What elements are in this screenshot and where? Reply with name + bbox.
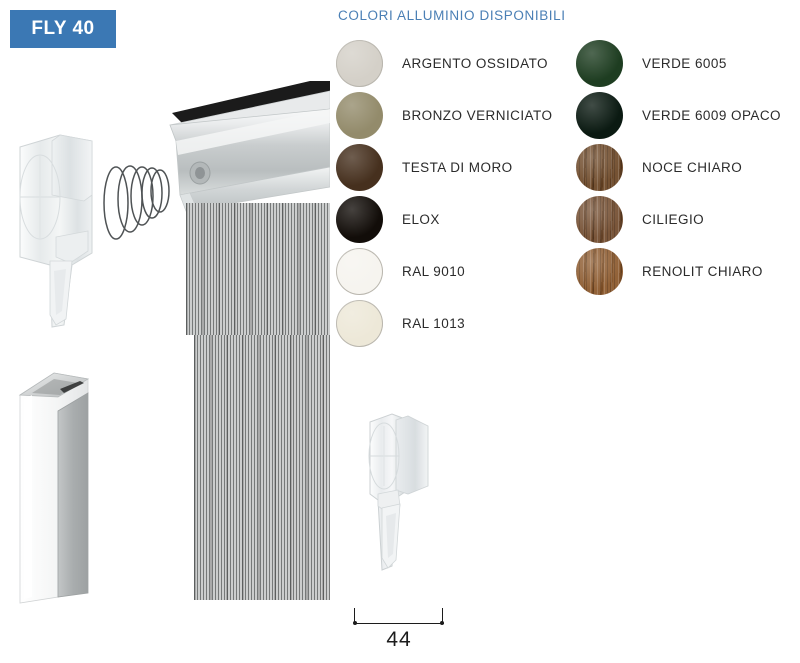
dimension-value: 44 (353, 628, 445, 652)
product-badge-label: FLY 40 (31, 18, 94, 40)
colors-column-right: VERDE 6005 VERDE 6009 OPACO NOCE CHIARO … (576, 37, 796, 349)
headrail-bar-part (170, 81, 330, 211)
dot-sheen (576, 92, 623, 139)
dot-sheen (336, 196, 383, 243)
color-swatch-row[interactable]: ELOX (336, 193, 576, 245)
color-label: ELOX (402, 212, 440, 227)
color-label: TESTA DI MORO (402, 160, 513, 175)
color-swatch-row[interactable]: NOCE CHIARO (576, 141, 796, 193)
end-cap-detail-svg (352, 408, 462, 603)
color-dot (336, 300, 383, 347)
color-swatch-row[interactable]: TESTA DI MORO (336, 141, 576, 193)
dimension-baseline (354, 623, 444, 624)
mesh-screen-texture (186, 203, 330, 335)
color-label: NOCE CHIARO (642, 160, 742, 175)
color-label: CILIEGIO (642, 212, 704, 227)
mesh-weave-bands-lower (194, 335, 330, 600)
color-swatch-row[interactable]: VERDE 6009 OPACO (576, 89, 796, 141)
color-swatch-row[interactable]: VERDE 6005 (576, 37, 796, 89)
mesh-screen-lower (194, 335, 330, 600)
colors-panel-title: COLORI ALLUMINIO DISPONIBILI (338, 8, 796, 23)
color-swatch-row[interactable]: RENOLIT CHIARO (576, 245, 796, 297)
color-dot (336, 196, 383, 243)
colors-columns: ARGENTO OSSIDATO BRONZO VERNICIATO TESTA… (336, 37, 796, 349)
color-dot (336, 40, 383, 87)
dimension-tick-right (440, 621, 444, 625)
dot-sheen (576, 196, 623, 243)
color-label: ARGENTO OSSIDATO (402, 56, 548, 71)
dot-sheen (336, 92, 383, 139)
dot-sheen (336, 300, 383, 347)
color-swatch-row[interactable]: ARGENTO OSSIDATO (336, 37, 576, 89)
end-cap-part (20, 135, 92, 327)
dimension-tick-left (353, 621, 357, 625)
color-swatch-row[interactable]: RAL 1013 (336, 297, 576, 349)
color-dot (576, 40, 623, 87)
dot-sheen (576, 144, 623, 191)
color-label: VERDE 6009 OPACO (642, 108, 781, 123)
color-label: RAL 9010 (402, 264, 465, 279)
guide-profile-svg (10, 365, 120, 605)
end-cap-detail-diagram (352, 408, 462, 603)
color-label: RENOLIT CHIARO (642, 264, 763, 279)
color-dot (576, 196, 623, 243)
dot-sheen (336, 40, 383, 87)
dot-sheen (576, 248, 623, 295)
color-dot (336, 92, 383, 139)
guide-profile-diagram (10, 365, 120, 605)
color-label: RAL 1013 (402, 316, 465, 331)
dot-sheen (576, 40, 623, 87)
color-dot (336, 144, 383, 191)
color-dot (576, 144, 623, 191)
color-dot (336, 248, 383, 295)
exploded-assembly-diagram (0, 75, 330, 335)
width-dimension: 44 (353, 608, 445, 656)
dot-sheen (336, 248, 383, 295)
color-swatch-row[interactable]: CILIEGIO (576, 193, 796, 245)
color-dot (576, 248, 623, 295)
color-label: BRONZO VERNICIATO (402, 108, 552, 123)
product-badge: FLY 40 (10, 10, 116, 48)
colors-column-left: ARGENTO OSSIDATO BRONZO VERNICIATO TESTA… (336, 37, 576, 349)
colors-panel: COLORI ALLUMINIO DISPONIBILI ARGENTO OSS… (336, 8, 796, 349)
color-label: VERDE 6005 (642, 56, 727, 71)
dot-sheen (336, 144, 383, 191)
coil-spring-part (104, 166, 169, 239)
color-swatch-row[interactable]: BRONZO VERNICIATO (336, 89, 576, 141)
color-swatch-row[interactable]: RAL 9010 (336, 245, 576, 297)
color-dot (576, 92, 623, 139)
mesh-weave-bands (186, 203, 330, 335)
